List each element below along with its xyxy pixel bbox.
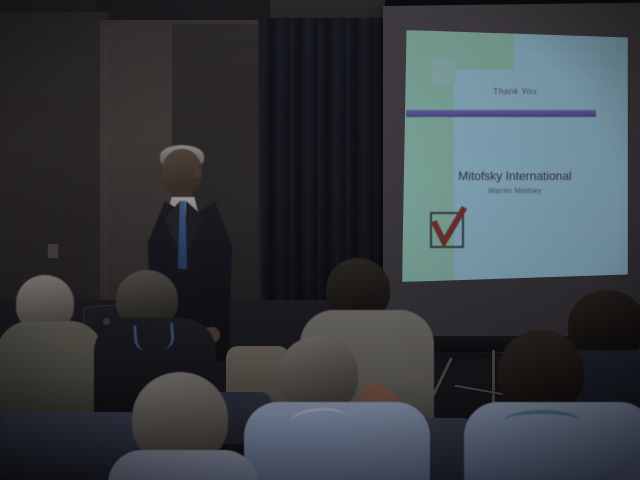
slide-accent-band-top: [402, 30, 514, 70]
wall-outlet: [47, 243, 59, 259]
presenter-ear: [193, 167, 201, 178]
wall-left: [0, 12, 108, 312]
audience-member-grey-hair-khaki: [0, 275, 106, 415]
slide-organization: Mitofsky International: [402, 169, 628, 183]
head: [278, 336, 358, 412]
slide-title: Thank You: [402, 86, 628, 96]
checkmark-icon: [429, 206, 469, 248]
slide-presenter-name: Warren Mitofsky: [402, 188, 628, 195]
lanyard: [133, 323, 175, 352]
slide-accent-corner: [432, 58, 456, 84]
conference-room-photo: Thank You Mitofsky International Warren …: [0, 0, 640, 480]
checkmark-box-logo: [430, 210, 464, 246]
audience-member-right-blue-shirt: [470, 330, 640, 480]
head: [498, 330, 584, 412]
slide-divider-bar: [406, 110, 596, 117]
torso: [108, 450, 258, 480]
torso: [0, 321, 104, 421]
projected-slide: Thank You Mitofsky International Warren …: [402, 30, 628, 282]
audience-member-bald-foreground: [118, 372, 244, 480]
audience-member-clapping-blue-shirt: [262, 336, 412, 480]
shirt-collar: [504, 410, 580, 432]
